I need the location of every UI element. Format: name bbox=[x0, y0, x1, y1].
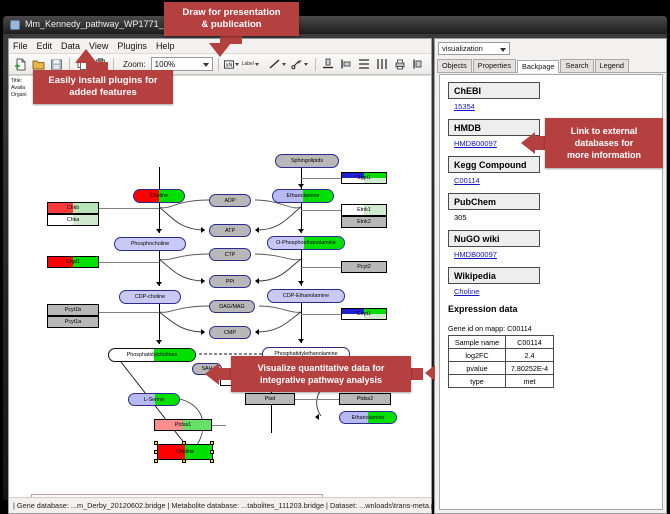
edge-segment bbox=[271, 405, 272, 433]
menu-help[interactable]: Help bbox=[156, 41, 175, 51]
gene-label: Chpt1 bbox=[66, 259, 80, 265]
node-cdp-choline[interactable]: CDP-choline bbox=[119, 290, 181, 304]
db-title-nugo-wiki: NuGO wiki bbox=[448, 230, 540, 247]
expression-data-heading: Expression data bbox=[448, 304, 662, 314]
anchor-tool-icon[interactable] bbox=[291, 57, 310, 72]
callout-draw: Draw for presentation & publication bbox=[164, 2, 299, 36]
callout-arrow-left-icon bbox=[425, 365, 435, 381]
chevron-down-icon bbox=[500, 48, 506, 52]
callout-line: databases for bbox=[575, 137, 634, 149]
node-dag-mag[interactable]: DAG/MAG bbox=[209, 300, 255, 313]
arrow-icon bbox=[156, 340, 162, 344]
edge-segment bbox=[159, 304, 160, 344]
callout-visualize: Visualize quantitative data for integrat… bbox=[231, 356, 411, 392]
align-bottom-icon[interactable] bbox=[321, 57, 336, 72]
gene-ptdss2[interactable]: Ptdss2 bbox=[339, 393, 391, 405]
gene-label: Cept1 bbox=[357, 311, 371, 317]
zoom-combo[interactable]: 100% bbox=[151, 57, 213, 71]
callout-line: added features bbox=[69, 87, 137, 99]
callout-line: Link to external bbox=[571, 125, 638, 137]
gene-etnk2[interactable]: Etnk2 bbox=[341, 216, 387, 228]
callout-line: more information bbox=[567, 149, 641, 161]
gene-label: Etnk1 bbox=[357, 207, 371, 213]
gene-pcyt1b[interactable]: Pcyt1b bbox=[47, 304, 99, 316]
print-icon[interactable] bbox=[393, 57, 408, 72]
tab-backpage[interactable]: Backpage bbox=[517, 60, 559, 73]
node-label: ADP bbox=[224, 198, 235, 204]
edge-segment bbox=[159, 167, 160, 189]
chevron-down-icon bbox=[255, 63, 259, 66]
tab-properties[interactable]: Properties bbox=[473, 59, 516, 72]
callout-links: Link to external databases for more info… bbox=[545, 118, 663, 168]
callout-line: Easily install plugins for bbox=[48, 75, 157, 87]
meta-title: Title: bbox=[11, 78, 27, 85]
chevron-down-icon bbox=[304, 63, 308, 66]
arrow-icon bbox=[201, 329, 205, 335]
gene-ptdss1[interactable]: Ptdss1 bbox=[154, 419, 212, 431]
db-link-nugo-wiki[interactable]: HMDB00097 bbox=[454, 250, 662, 259]
gene-label: Ptdss1 bbox=[175, 422, 191, 428]
edge-segment bbox=[301, 314, 341, 315]
arrow-icon bbox=[298, 339, 304, 343]
gene-label: Pisd bbox=[265, 396, 276, 402]
arrow-icon bbox=[201, 278, 205, 284]
node-ethanolamine-1[interactable]: Ethanolamine bbox=[272, 189, 334, 203]
db-link-chebi[interactable]: 15354 bbox=[454, 102, 662, 111]
callout-line: Visualize quantitative data for bbox=[258, 362, 385, 374]
toolbar-separator-4 bbox=[315, 58, 316, 71]
node-label: Ethanolamine bbox=[287, 193, 320, 199]
gene-label: Pcyt1a bbox=[65, 319, 81, 325]
callout-stem bbox=[411, 368, 423, 380]
gene-label: Chkb bbox=[67, 205, 80, 211]
db-link-kegg-compound[interactable]: C00114 bbox=[454, 176, 662, 185]
callout-arrow-left-icon bbox=[205, 363, 219, 385]
node-cmp[interactable]: CMP bbox=[209, 326, 251, 339]
tab-objects[interactable]: Objects bbox=[437, 59, 472, 72]
callout-line: & publication bbox=[201, 19, 261, 31]
node-label: PPi bbox=[226, 279, 234, 285]
node-ctp[interactable]: CTP bbox=[209, 248, 251, 261]
menu-plugins[interactable]: Plugins bbox=[117, 41, 147, 51]
align-left-icon[interactable] bbox=[339, 57, 354, 72]
visualization-value: visualization bbox=[442, 44, 483, 53]
tabstrip: Objects Properties Backpage Search Legen… bbox=[437, 60, 666, 73]
edge-segment bbox=[301, 178, 341, 179]
node-label: DAG/MAG bbox=[219, 304, 244, 310]
arrow-icon bbox=[298, 229, 304, 233]
gene-label: Chka bbox=[67, 217, 80, 223]
edge-segment bbox=[159, 251, 160, 286]
stack-icon[interactable] bbox=[411, 57, 426, 72]
label-tool-icon[interactable]: Label bbox=[242, 57, 266, 72]
db-title-kegg-compound: Kegg Compound bbox=[448, 156, 540, 173]
db-title-wikipedia: Wikipedia bbox=[448, 267, 540, 284]
node-sphingolipids[interactable]: Sphingolipids bbox=[275, 154, 339, 168]
node-label: Sphingolipids bbox=[291, 158, 323, 164]
node-label: CTP bbox=[225, 252, 236, 258]
new-file-icon[interactable] bbox=[13, 57, 28, 72]
chevron-down-icon bbox=[282, 63, 286, 66]
toolbar-separator-3 bbox=[218, 58, 219, 71]
node-label: Choline bbox=[176, 449, 194, 455]
table-row: pvalue 7.80252E-4 bbox=[449, 362, 554, 375]
gene-etnk1[interactable]: Etnk1 bbox=[341, 204, 387, 216]
side-panel: visualization Objects Properties Backpag… bbox=[434, 38, 667, 514]
node-phosphatidylcholines[interactable]: Phosphatidylcholines bbox=[108, 348, 196, 362]
callout-arrow-up-icon bbox=[75, 49, 97, 63]
svg-text:aN: aN bbox=[225, 62, 232, 68]
selection-handle[interactable] bbox=[154, 441, 158, 445]
arrow-icon bbox=[298, 184, 304, 188]
node-choline-top[interactable]: Choline bbox=[133, 189, 185, 203]
node-l-serine-left[interactable]: L-Serine bbox=[128, 393, 180, 406]
meta-organism: Organi bbox=[11, 92, 27, 99]
node-label: Ethanolamine bbox=[352, 415, 385, 421]
zoom-label: Zoom: bbox=[123, 60, 146, 69]
db-title-pubchem: PubChem bbox=[448, 193, 540, 210]
node-adp[interactable]: ADP bbox=[209, 194, 251, 207]
cell-key: type bbox=[449, 375, 506, 388]
share-callout: Share on Wikipathways.org bbox=[31, 494, 323, 497]
arrow-icon bbox=[156, 229, 162, 233]
line-tool-icon[interactable] bbox=[269, 57, 288, 72]
arrow-icon bbox=[298, 281, 304, 285]
selection-handle[interactable] bbox=[154, 459, 158, 463]
zoom-value: 100% bbox=[155, 60, 175, 69]
node-label: Phosphatidylcholines bbox=[127, 352, 178, 358]
db-link-wikipedia[interactable]: Choline bbox=[454, 287, 662, 296]
table-row: log2FC 2.4 bbox=[449, 349, 554, 362]
editor-panel: File Edit Data View Plugins Help bbox=[8, 38, 432, 514]
callout-stem bbox=[218, 368, 232, 380]
gene-label: Ptdss2 bbox=[357, 396, 373, 402]
pathway-canvas[interactable]: Title: Availa Organi bbox=[9, 75, 431, 497]
datanode-tool-icon[interactable]: aN bbox=[224, 57, 239, 72]
gene-id-line: Gene id on mapp: C00114 bbox=[448, 324, 662, 333]
cell-value: 7.80252E-4 bbox=[506, 362, 554, 375]
cell-value: 2.4 bbox=[506, 349, 554, 362]
arrow-icon bbox=[201, 227, 205, 233]
gene-chka[interactable]: Chka bbox=[47, 214, 99, 226]
selection-handle[interactable] bbox=[182, 459, 186, 463]
node-cdp-ethanolamine[interactable]: CDP-Ethanolamine bbox=[267, 289, 345, 303]
node-o-phosphoethanolamine[interactable]: O-Phosphoethanolamine bbox=[267, 236, 345, 250]
gene-label: Pcyt2 bbox=[357, 264, 370, 270]
edge-segment bbox=[301, 303, 302, 343]
chevron-down-icon bbox=[203, 63, 209, 67]
node-ppi[interactable]: PPi bbox=[209, 275, 251, 288]
arrow-icon bbox=[255, 278, 259, 284]
distribute-vertical-icon[interactable] bbox=[357, 57, 372, 72]
node-label: Phosphocholine bbox=[131, 241, 169, 247]
gene-pcyt1a[interactable]: Pcyt1a bbox=[47, 316, 99, 328]
db-title-chebi: ChEBI bbox=[448, 82, 540, 99]
arrow-icon bbox=[255, 329, 259, 335]
selection-handle[interactable] bbox=[210, 450, 214, 454]
gene-sgpl1[interactable]: Sgpl1 bbox=[341, 172, 387, 184]
distribute-horizontal-icon[interactable] bbox=[375, 57, 390, 72]
callout-plugins: Easily install plugins for added feature… bbox=[33, 70, 173, 104]
gene-pcyt2[interactable]: Pcyt2 bbox=[341, 261, 387, 273]
cell-key: Sample name bbox=[449, 336, 506, 349]
cell-key: log2FC bbox=[449, 349, 506, 362]
node-ethanolamine-2[interactable]: Ethanolamine bbox=[339, 411, 397, 424]
menu-file[interactable]: File bbox=[13, 41, 28, 51]
node-label: CDP-Ethanolamine bbox=[283, 293, 329, 299]
toolbar-separator-2 bbox=[113, 58, 114, 71]
edge-segment bbox=[99, 312, 159, 313]
edge-segment bbox=[301, 267, 341, 268]
edge-segment bbox=[99, 208, 159, 209]
node-label: O-Phosphoethanolamine bbox=[276, 240, 336, 246]
selection-handle[interactable] bbox=[210, 459, 214, 463]
visualization-combo[interactable]: visualization bbox=[438, 42, 510, 55]
app-icon bbox=[10, 20, 20, 30]
menu-edit[interactable]: Edit bbox=[37, 41, 53, 51]
node-phosphocholine[interactable]: Phosphocholine bbox=[114, 237, 186, 251]
edge-segment bbox=[212, 425, 226, 426]
statusbar: | Gene database: ...m_Derby_20120602.bri… bbox=[9, 497, 431, 513]
node-atp[interactable]: ATP bbox=[209, 224, 251, 237]
table-row: Sample name C00114 bbox=[449, 336, 554, 349]
edge-segment bbox=[99, 262, 159, 263]
db-value-pubchem: 305 bbox=[454, 213, 662, 222]
arrow-icon bbox=[315, 414, 319, 420]
node-label: L-Serine bbox=[144, 397, 164, 403]
gene-cept1[interactable]: Cept1 bbox=[341, 308, 387, 320]
gene-pisd[interactable]: Pisd bbox=[245, 393, 295, 405]
node-label: CDP-choline bbox=[135, 294, 165, 300]
expression-table: Sample name C00114 log2FC 2.4 pvalue 7.8… bbox=[448, 335, 554, 388]
selection-handle[interactable] bbox=[182, 441, 186, 445]
tab-search[interactable]: Search bbox=[560, 59, 593, 72]
gene-label: Etnk2 bbox=[357, 219, 371, 225]
node-label: ATP bbox=[225, 228, 235, 234]
canvas-metadata: Title: Availa Organi bbox=[11, 78, 27, 99]
gene-label: Pcyt1b bbox=[65, 307, 81, 313]
cell-value: met bbox=[506, 375, 554, 388]
window-titlebar: Mm_Kennedy_pathway_WP1771_45176.gpml bbox=[3, 16, 667, 34]
gene-chpt1[interactable]: Chpt1 bbox=[47, 256, 99, 268]
selection-handle[interactable] bbox=[154, 450, 158, 454]
table-row: type met bbox=[449, 375, 554, 388]
tab-legend[interactable]: Legend bbox=[595, 59, 629, 72]
arrow-icon bbox=[255, 227, 259, 233]
callout-line: Draw for presentation bbox=[182, 7, 280, 19]
chevron-down-icon bbox=[235, 63, 239, 66]
cell-value: C00114 bbox=[506, 336, 554, 349]
selection-handle[interactable] bbox=[210, 441, 214, 445]
gene-label: Sgpl1 bbox=[357, 175, 371, 181]
edge-segment bbox=[301, 210, 341, 211]
toolbar-separator-1 bbox=[69, 58, 70, 71]
callout-arrow-down-icon bbox=[209, 43, 231, 57]
node-label: CMP bbox=[224, 330, 236, 336]
node-choline-selected[interactable]: Choline bbox=[157, 444, 213, 460]
callout-arrow-left-icon bbox=[521, 132, 535, 154]
cell-key: pvalue bbox=[449, 362, 506, 375]
gene-chkb[interactable]: Chkb bbox=[47, 202, 99, 214]
node-label: Choline bbox=[150, 193, 168, 199]
edge-segment bbox=[295, 399, 339, 400]
meta-availability: Availa bbox=[11, 85, 27, 92]
callout-line: integrative pathway analysis bbox=[260, 374, 382, 386]
arrow-icon bbox=[156, 282, 162, 286]
